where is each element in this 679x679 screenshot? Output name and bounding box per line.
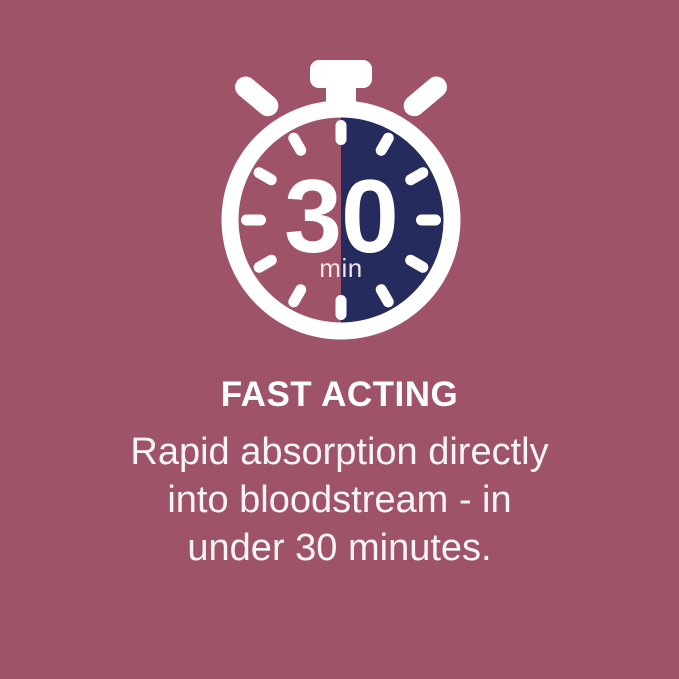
feature-text-block: FAST ACTING Rapid absorption directly in… xyxy=(0,375,679,679)
feature-description: Rapid absorption directly into bloodstre… xyxy=(0,429,679,573)
stopwatch-crown-cap xyxy=(310,60,372,88)
stopwatch-icon: 30 min xyxy=(0,0,679,375)
description-line: into bloodstream - in xyxy=(60,477,619,525)
stopwatch-unit-label: min xyxy=(319,253,362,283)
description-line: under 30 minutes. xyxy=(60,525,619,573)
fast-acting-feature-card: 30 min FAST ACTING Rapid absorption dire… xyxy=(0,0,679,679)
stopwatch-left-button xyxy=(231,72,283,120)
stopwatch-right-button xyxy=(399,72,451,120)
page-title: FAST ACTING xyxy=(0,375,679,415)
description-line: Rapid absorption directly xyxy=(60,429,619,477)
stopwatch-illustration: 30 min xyxy=(0,0,679,375)
